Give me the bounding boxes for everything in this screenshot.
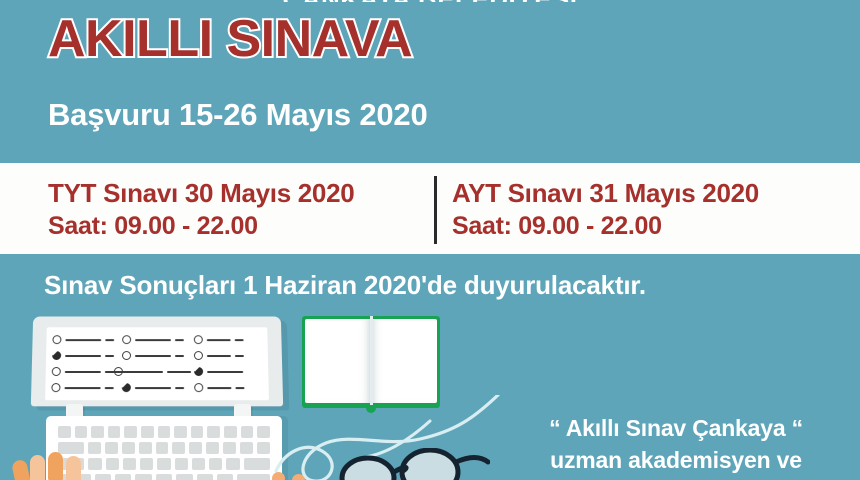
tyt-exam-title: TYT Sınavı 30 Mayıs 2020 bbox=[48, 176, 354, 210]
answer-bubble-icon bbox=[122, 335, 131, 344]
text-line bbox=[175, 339, 184, 341]
keyboard-key bbox=[174, 426, 187, 438]
quiz-row bbox=[194, 351, 244, 360]
answer-bubble-icon bbox=[194, 335, 203, 344]
text-line bbox=[235, 339, 244, 341]
text-line bbox=[135, 355, 171, 357]
ayt-exam-title: AYT Sınavı 31 Mayıs 2020 bbox=[452, 176, 759, 210]
quiz-row bbox=[114, 367, 191, 376]
tyt-exam-time: Saat: 09.00 - 22.00 bbox=[48, 210, 354, 243]
keyboard-key bbox=[223, 442, 236, 454]
keyboard-key bbox=[108, 426, 121, 438]
glasses-lens-right bbox=[402, 450, 458, 480]
keyboard-key bbox=[192, 458, 205, 470]
glasses-lens-left bbox=[342, 458, 394, 480]
keyboard-key bbox=[244, 458, 270, 470]
keyboard-key bbox=[105, 442, 118, 454]
keyboard-key bbox=[257, 426, 270, 438]
text-line bbox=[207, 339, 231, 341]
keyboard-key bbox=[141, 426, 154, 438]
keyboard-key bbox=[139, 442, 152, 454]
keyboard-key bbox=[209, 458, 222, 470]
text-line bbox=[167, 370, 191, 372]
keyboard-key bbox=[189, 442, 202, 454]
finger bbox=[11, 459, 32, 480]
quiz-row bbox=[52, 351, 114, 360]
answer-bubble-checked-icon bbox=[122, 383, 131, 392]
keyboard-key bbox=[115, 474, 131, 480]
answer-bubble-icon bbox=[52, 335, 61, 344]
text-line bbox=[235, 355, 244, 357]
eyeglasses-illustration bbox=[330, 448, 490, 480]
keyboard-key bbox=[124, 426, 137, 438]
quiz-row bbox=[194, 335, 244, 344]
poster-canvas: ÇANKAYA BELEDİYESİ AKILLI SINAVA Başvuru… bbox=[0, 0, 860, 480]
quote-line-1: “ Akıllı Sınav Çankaya “ bbox=[506, 412, 846, 444]
keyboard-key bbox=[217, 474, 233, 480]
quiz-row bbox=[122, 335, 184, 344]
text-line bbox=[64, 387, 100, 389]
keyboard-key bbox=[106, 458, 119, 470]
keyboard-key bbox=[226, 458, 239, 470]
keyboard-key bbox=[206, 442, 219, 454]
keyboard-key bbox=[122, 442, 135, 454]
quiz-row bbox=[51, 383, 113, 392]
laptop-screen bbox=[45, 327, 269, 400]
keyboard-key bbox=[197, 474, 213, 480]
text-line bbox=[65, 370, 101, 372]
text-line bbox=[207, 370, 243, 372]
quiz-row bbox=[122, 383, 184, 392]
glasses-temple-arm bbox=[456, 458, 488, 463]
text-line bbox=[135, 339, 171, 341]
quote-block: “ Akıllı Sınav Çankaya “ uzman akademisy… bbox=[506, 412, 846, 476]
answer-bubble-icon bbox=[122, 351, 131, 360]
keyboard-key bbox=[158, 426, 171, 438]
keyboard-key bbox=[240, 442, 253, 454]
keyboard-key bbox=[156, 442, 169, 454]
top-cropped-text: ÇANKAYA BELEDİYESİ bbox=[0, 0, 860, 2]
text-line bbox=[175, 355, 184, 357]
text-line bbox=[65, 339, 101, 341]
answer-bubble-icon bbox=[51, 383, 60, 392]
keyboard-key bbox=[176, 474, 192, 480]
exam-info-band: TYT Sınavı 30 Mayıs 2020 Saat: 09.00 - 2… bbox=[0, 163, 860, 254]
answer-bubble-checked-icon bbox=[194, 367, 203, 376]
page-title: AKILLI SINAVA bbox=[48, 10, 412, 68]
quiz-row bbox=[194, 367, 243, 376]
text-line bbox=[175, 387, 184, 389]
keyboard-key bbox=[91, 426, 104, 438]
laptop-lid bbox=[31, 317, 283, 407]
finger bbox=[30, 455, 45, 480]
text-line bbox=[105, 387, 114, 389]
illustration-group bbox=[0, 300, 520, 480]
exam-column-tyt: TYT Sınavı 30 Mayıs 2020 Saat: 09.00 - 2… bbox=[48, 176, 354, 243]
keyboard-key bbox=[224, 426, 237, 438]
keyboard-key bbox=[191, 426, 204, 438]
quiz-row bbox=[194, 383, 244, 392]
text-line bbox=[65, 355, 101, 357]
keyboard-key bbox=[95, 474, 111, 480]
text-line bbox=[105, 355, 114, 357]
glasses-bridge bbox=[394, 467, 406, 472]
answer-bubble-icon bbox=[194, 351, 203, 360]
keyboard-key bbox=[257, 442, 270, 454]
keyboard-key bbox=[75, 426, 88, 438]
text-line bbox=[235, 387, 244, 389]
answer-bubble-icon bbox=[52, 367, 61, 376]
keyboard-key bbox=[175, 458, 188, 470]
finger bbox=[48, 452, 63, 480]
answer-bubble-icon bbox=[194, 383, 203, 392]
text-line bbox=[135, 387, 171, 389]
answer-bubble-icon bbox=[114, 367, 123, 376]
keyboard-key bbox=[135, 474, 151, 480]
keyboard-key bbox=[241, 426, 254, 438]
exam-column-ayt: AYT Sınavı 31 Mayıs 2020 Saat: 09.00 - 2… bbox=[452, 176, 759, 243]
keyboard-key bbox=[172, 442, 185, 454]
keyboard-key bbox=[207, 426, 220, 438]
text-line bbox=[207, 355, 231, 357]
results-announcement: Sınav Sonuçları 1 Haziran 2020'de duyuru… bbox=[44, 268, 646, 302]
text-line bbox=[127, 370, 163, 372]
text-line bbox=[207, 387, 231, 389]
keyboard-key bbox=[237, 474, 270, 480]
text-line bbox=[105, 339, 114, 341]
ayt-exam-time: Saat: 09.00 - 22.00 bbox=[452, 210, 759, 243]
keyboard-row bbox=[58, 426, 270, 438]
earbud-icon bbox=[292, 474, 305, 480]
quiz-row bbox=[52, 335, 114, 344]
keyboard-key bbox=[156, 474, 172, 480]
quiz-row bbox=[122, 351, 184, 360]
keyboard-key bbox=[123, 458, 136, 470]
hand-left-illustration bbox=[8, 446, 94, 480]
earbud-icon bbox=[272, 472, 285, 480]
application-dates: Başvuru 15-26 Mayıs 2020 bbox=[48, 96, 428, 134]
finger bbox=[66, 456, 81, 480]
answer-bubble-checked-icon bbox=[52, 351, 61, 360]
keyboard-key bbox=[157, 458, 170, 470]
keyboard-key bbox=[58, 426, 71, 438]
book-page-right bbox=[372, 319, 437, 403]
book-page-left bbox=[305, 319, 370, 403]
quote-line-2: uzman akademisyen ve bbox=[506, 444, 846, 476]
column-divider bbox=[434, 176, 437, 244]
keyboard-key bbox=[140, 458, 153, 470]
